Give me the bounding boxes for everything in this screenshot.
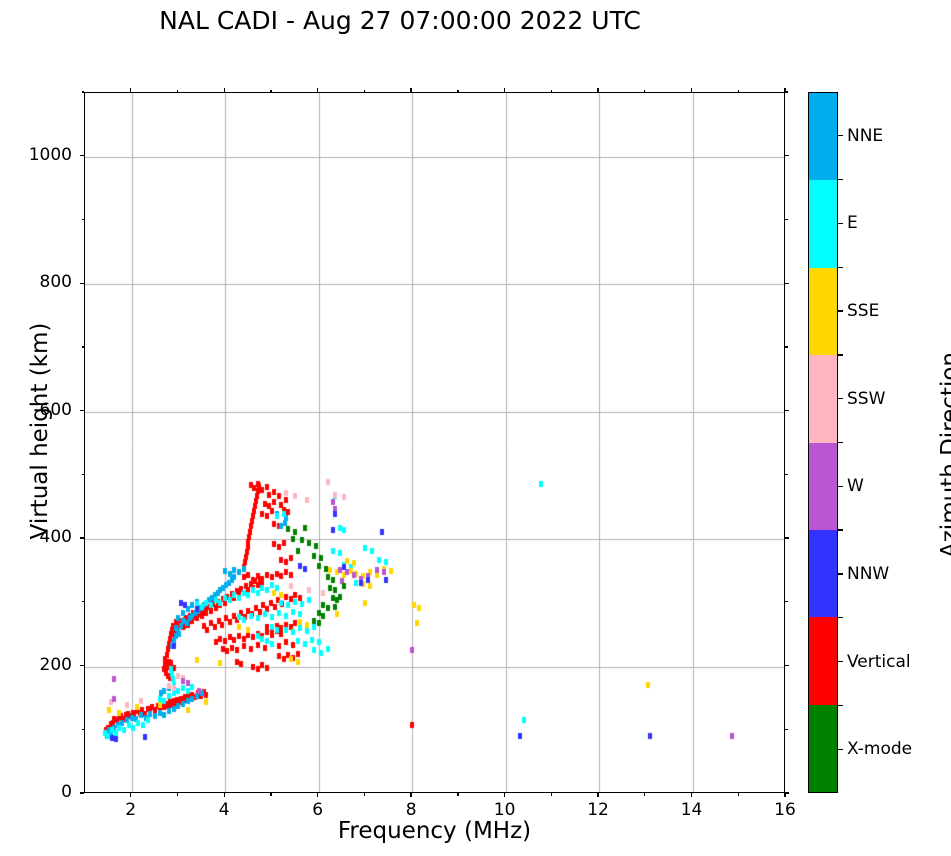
x-tick — [317, 793, 318, 797]
x-tick-minor — [364, 793, 365, 796]
x-tick-top — [130, 88, 131, 92]
colorbar-label-nnw: NNW — [847, 564, 889, 584]
x-tick-top — [317, 88, 318, 92]
x-tick-label: 16 — [745, 800, 825, 820]
y-tick-right — [785, 792, 789, 793]
y-tick-minor — [82, 346, 85, 347]
ionogram-figure: NAL CADI - Aug 27 07:00:00 2022 UTC 2468… — [0, 0, 951, 856]
colorbar-boundary-tick — [838, 179, 843, 180]
y-tick-right — [785, 410, 789, 411]
page-title: NAL CADI - Aug 27 07:00:00 2022 UTC — [0, 6, 800, 35]
x-tick — [504, 793, 505, 797]
y-tick-right — [785, 665, 789, 666]
colorbar-tick — [838, 223, 843, 224]
colorbar-tick — [838, 573, 843, 574]
colorbar-boundary-tick — [838, 617, 843, 618]
y-tick-minor — [82, 91, 85, 92]
y-tick-minor — [785, 729, 788, 730]
colorbar-segment-vertical[interactable] — [809, 617, 837, 704]
colorbar-label-e: E — [847, 213, 858, 233]
y-tick — [80, 665, 84, 666]
colorbar-label-w: W — [847, 476, 864, 496]
y-tick — [80, 792, 84, 793]
x-tick-minor — [177, 793, 178, 796]
x-tick — [691, 793, 692, 797]
colorbar-tick — [838, 310, 843, 311]
colorbar-boundary-tick — [838, 705, 843, 706]
colorbar-tick — [838, 749, 843, 750]
y-tick-minor — [82, 219, 85, 220]
y-tick-minor — [785, 219, 788, 220]
y-tick — [80, 410, 84, 411]
x-tick-label: 8 — [371, 800, 451, 820]
colorbar-boundary-tick — [838, 442, 843, 443]
x-tick-minor — [457, 90, 458, 93]
x-tick-top — [410, 88, 411, 92]
colorbar[interactable] — [808, 92, 838, 793]
y-tick-minor — [785, 474, 788, 475]
colorbar-boundary-tick — [838, 354, 843, 355]
y-axis-label: Virtual height (km) — [27, 281, 53, 581]
y-tick-right — [785, 537, 789, 538]
x-tick-top — [597, 88, 598, 92]
colorbar-label-sse: SSE — [847, 301, 879, 321]
x-tick — [224, 793, 225, 797]
y-tick-minor — [785, 601, 788, 602]
data-layer — [85, 93, 785, 793]
y-tick — [80, 155, 84, 156]
x-axis-label: Frequency (MHz) — [84, 818, 785, 844]
colorbar-label-vertical: Vertical — [847, 652, 911, 672]
x-tick-label: 4 — [184, 800, 264, 820]
y-tick-minor — [785, 91, 788, 92]
colorbar-label-x-mode: X-mode — [847, 739, 912, 759]
colorbar-tick — [838, 486, 843, 487]
colorbar-tick — [838, 398, 843, 399]
x-tick-label: 10 — [465, 800, 545, 820]
x-tick-minor — [738, 90, 739, 93]
y-tick-right — [785, 283, 789, 284]
y-tick — [80, 537, 84, 538]
y-tick-minor — [82, 729, 85, 730]
y-tick-label: 1000 — [0, 145, 72, 165]
y-tick — [80, 283, 84, 284]
y-tick-right — [785, 155, 789, 156]
x-tick-minor — [551, 90, 552, 93]
x-tick-minor — [644, 793, 645, 796]
x-tick-minor — [551, 793, 552, 796]
x-tick-top — [691, 88, 692, 92]
y-tick-minor — [82, 474, 85, 475]
x-tick-label: 14 — [652, 800, 732, 820]
colorbar-title: Azimuth Direction — [937, 305, 951, 605]
x-tick-top — [224, 88, 225, 92]
x-tick-minor — [270, 793, 271, 796]
colorbar-segment-nne[interactable] — [809, 93, 837, 180]
colorbar-label-nne: NNE — [847, 126, 883, 146]
y-tick-label: 200 — [0, 655, 72, 675]
colorbar-boundary-tick — [838, 529, 843, 530]
colorbar-tick — [838, 661, 843, 662]
colorbar-boundary-tick — [838, 267, 843, 268]
colorbar-segment-nnw[interactable] — [809, 530, 837, 617]
x-tick-label: 12 — [558, 800, 638, 820]
x-tick-minor — [738, 793, 739, 796]
colorbar-segment-e[interactable] — [809, 180, 837, 267]
x-tick — [130, 793, 131, 797]
x-tick-label: 6 — [278, 800, 358, 820]
colorbar-segment-sse[interactable] — [809, 268, 837, 355]
y-tick-minor — [82, 601, 85, 602]
x-tick-minor — [364, 90, 365, 93]
colorbar-segment-x-mode[interactable] — [809, 705, 837, 792]
x-tick — [597, 793, 598, 797]
x-tick-minor — [270, 90, 271, 93]
x-tick-minor — [644, 90, 645, 93]
colorbar-segment-w[interactable] — [809, 443, 837, 530]
x-tick-top — [504, 88, 505, 92]
colorbar-tick — [838, 135, 843, 136]
x-tick-label: 2 — [91, 800, 171, 820]
x-tick — [410, 793, 411, 797]
x-tick-minor — [457, 793, 458, 796]
x-tick-minor — [177, 90, 178, 93]
colorbar-label-ssw: SSW — [847, 389, 885, 409]
y-tick-label: 0 — [0, 782, 72, 802]
y-tick-minor — [785, 346, 788, 347]
plot-area[interactable] — [84, 92, 785, 793]
colorbar-segment-ssw[interactable] — [809, 355, 837, 442]
